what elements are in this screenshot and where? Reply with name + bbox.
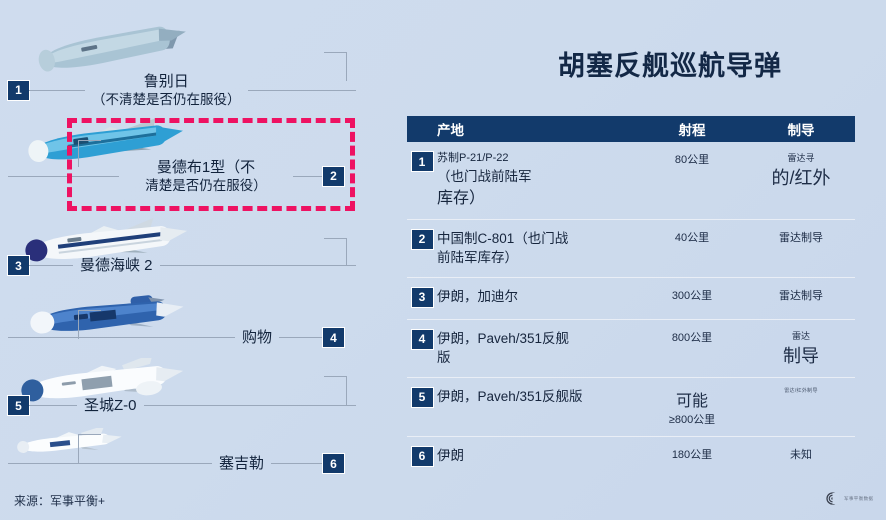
range-cell-4: 800公里 <box>637 329 747 368</box>
guidance-line-4a: 雷达 <box>747 329 855 342</box>
diagram-label-text-4: 购物 <box>235 328 279 347</box>
connector-1 <box>324 52 347 81</box>
right-panel: 胡塞反舰巡航导弹 产地 射程 制导 1 苏制P-21/P-22 （也门战前陆军 … <box>404 0 886 520</box>
origin-line-1b: （也门战前陆军 <box>437 167 637 187</box>
origin-line-1c: 库存） <box>437 187 637 210</box>
source-note: 来源：军事平衡+ <box>14 492 105 509</box>
column-header-origin: 产地 <box>407 119 637 139</box>
origin-cell-1: 苏制P-21/P-22 （也门战前陆军 库存） <box>437 151 637 210</box>
range-cell-2: 40公里 <box>637 229 747 268</box>
diagram-name-6: 塞吉勒 <box>219 455 264 472</box>
origin-line-4b: 版 <box>437 348 637 368</box>
logo-mark-icon <box>826 492 839 505</box>
logo-text: 军事平衡数据 <box>844 496 873 502</box>
range-value-3: 300公里 <box>637 287 747 303</box>
origin-line-4a: 伊朗，Paveh/351反舰 <box>437 329 637 349</box>
origin-line-6a: 伊朗 <box>437 446 637 466</box>
diagram-badge-6[interactable]: 6 <box>323 454 344 473</box>
diagram-note-1: （不清楚是否仍在服役） <box>92 91 241 108</box>
diagram-label-text-6: 塞吉勒 <box>212 454 271 473</box>
guidance-line-4b: 制导 <box>747 342 855 368</box>
range-value-1: 80公里 <box>637 151 747 167</box>
diagram-name-1: 鲁别日 <box>144 73 189 90</box>
row-badge-6[interactable]: 6 <box>412 447 433 466</box>
range-value-5b: ≥800公里 <box>637 411 747 427</box>
row-badge-1[interactable]: 1 <box>412 152 433 171</box>
diagram-name-4: 购物 <box>242 329 272 346</box>
range-cell-5: 可能 ≥800公里 <box>637 387 747 427</box>
guidance-line-1b: 的/红外 <box>747 164 855 190</box>
range-cell-3: 300公里 <box>637 287 747 310</box>
range-value-4: 800公里 <box>637 329 747 345</box>
row-badge-5[interactable]: 5 <box>412 388 433 407</box>
connector-5 <box>324 376 347 405</box>
guidance-cell-4: 雷达 制导 <box>747 329 855 368</box>
guidance-cell-2: 雷达制导 <box>747 229 855 268</box>
diagram-label-text-1: 鲁别日 （不清楚是否仍在服役） <box>85 72 248 108</box>
table-row: 3 伊朗，加迪尔 300公里 雷达制导 <box>407 277 855 319</box>
guidance-value-6: 未知 <box>747 446 855 462</box>
infographic-root: 1 鲁别日 （不清楚是否仍在服役） <box>0 0 886 520</box>
table-row: 5 伊朗，Paveh/351反舰版 可能 ≥800公里 雷达/红外制导 <box>407 377 855 436</box>
table-row: 6 伊朗 180公里 未知 <box>407 436 855 478</box>
range-value-2: 40公里 <box>637 229 747 245</box>
column-header-guidance: 制导 <box>747 119 855 139</box>
diagram-badge-5[interactable]: 5 <box>8 396 29 415</box>
origin-line-1a: 苏制P-21/P-22 <box>437 151 637 167</box>
guidance-cell-1: 雷达寻 的/红外 <box>747 151 855 210</box>
missile-table: 产地 射程 制导 1 苏制P-21/P-22 （也门战前陆军 库存） 80公里 <box>407 116 855 478</box>
connector-3 <box>324 238 347 265</box>
row-number-cell: 1 <box>407 151 437 210</box>
row-number-cell: 5 <box>407 387 437 427</box>
guidance-cell-6: 未知 <box>747 446 855 469</box>
guidance-value-2: 雷达制导 <box>747 229 855 245</box>
diagram-name-5: 圣城Z-0 <box>84 397 137 414</box>
range-value-6: 180公里 <box>637 446 747 462</box>
origin-line-2a: 中国制C-801（也门战 <box>437 229 637 249</box>
guidance-value-5: 雷达/红外制导 <box>747 387 855 394</box>
guidance-value-3: 雷达制导 <box>747 287 855 303</box>
highlight-box-item-2 <box>67 118 355 211</box>
origin-line-3a: 伊朗，加迪尔 <box>437 287 637 307</box>
row-badge-2[interactable]: 2 <box>412 230 433 249</box>
connector-4 <box>78 310 101 339</box>
row-number-cell: 3 <box>407 287 437 310</box>
row-number-cell: 6 <box>407 446 437 469</box>
origin-cell-3: 伊朗，加迪尔 <box>437 287 637 310</box>
range-cell-6: 180公里 <box>637 446 747 469</box>
table-header-row: 产地 射程 制导 <box>407 116 855 142</box>
origin-cell-2: 中国制C-801（也门战 前陆军库存） <box>437 229 637 268</box>
publisher-logo: 军事平衡数据 <box>826 492 873 505</box>
origin-line-5a: 伊朗，Paveh/351反舰版 <box>437 387 637 407</box>
row-badge-4[interactable]: 4 <box>412 330 433 349</box>
guidance-line-1a: 雷达寻 <box>747 151 855 164</box>
row-number-cell: 4 <box>407 329 437 368</box>
diagram-badge-4[interactable]: 4 <box>323 328 344 347</box>
diagram-badge-1[interactable]: 1 <box>8 81 29 100</box>
diagram-label-text-3: 曼德海峡 2 <box>73 256 160 275</box>
origin-cell-4: 伊朗，Paveh/351反舰 版 <box>437 329 637 368</box>
table-row: 2 中国制C-801（也门战 前陆军库存） 40公里 雷达制导 <box>407 219 855 277</box>
diagram-label-4: 购物 4 <box>0 328 392 347</box>
missile-diagram: 1 鲁别日 （不清楚是否仍在服役） <box>0 0 392 480</box>
origin-line-2b: 前陆军库存） <box>437 248 637 268</box>
origin-cell-6: 伊朗 <box>437 446 637 469</box>
diagram-label-6: 塞吉勒 6 <box>0 454 392 473</box>
diagram-name-3: 曼德海峡 2 <box>80 257 153 274</box>
row-number-cell: 2 <box>407 229 437 268</box>
diagram-badge-3[interactable]: 3 <box>8 256 29 275</box>
range-value-5: 可能 <box>637 387 747 411</box>
row-badge-3[interactable]: 3 <box>412 288 433 307</box>
connector-6 <box>78 434 101 463</box>
range-cell-1: 80公里 <box>637 151 747 210</box>
column-header-range: 射程 <box>637 119 747 139</box>
table-row: 4 伊朗，Paveh/351反舰 版 800公里 雷达 制导 <box>407 319 855 377</box>
guidance-cell-5: 雷达/红外制导 <box>747 387 855 427</box>
guidance-cell-3: 雷达制导 <box>747 287 855 310</box>
origin-cell-5: 伊朗，Paveh/351反舰版 <box>437 387 637 427</box>
page-title: 胡塞反舰巡航导弹 <box>500 44 840 83</box>
diagram-label-text-5: 圣城Z-0 <box>77 396 144 415</box>
table-row: 1 苏制P-21/P-22 （也门战前陆军 库存） 80公里 雷达寻 的/红外 <box>407 142 855 219</box>
